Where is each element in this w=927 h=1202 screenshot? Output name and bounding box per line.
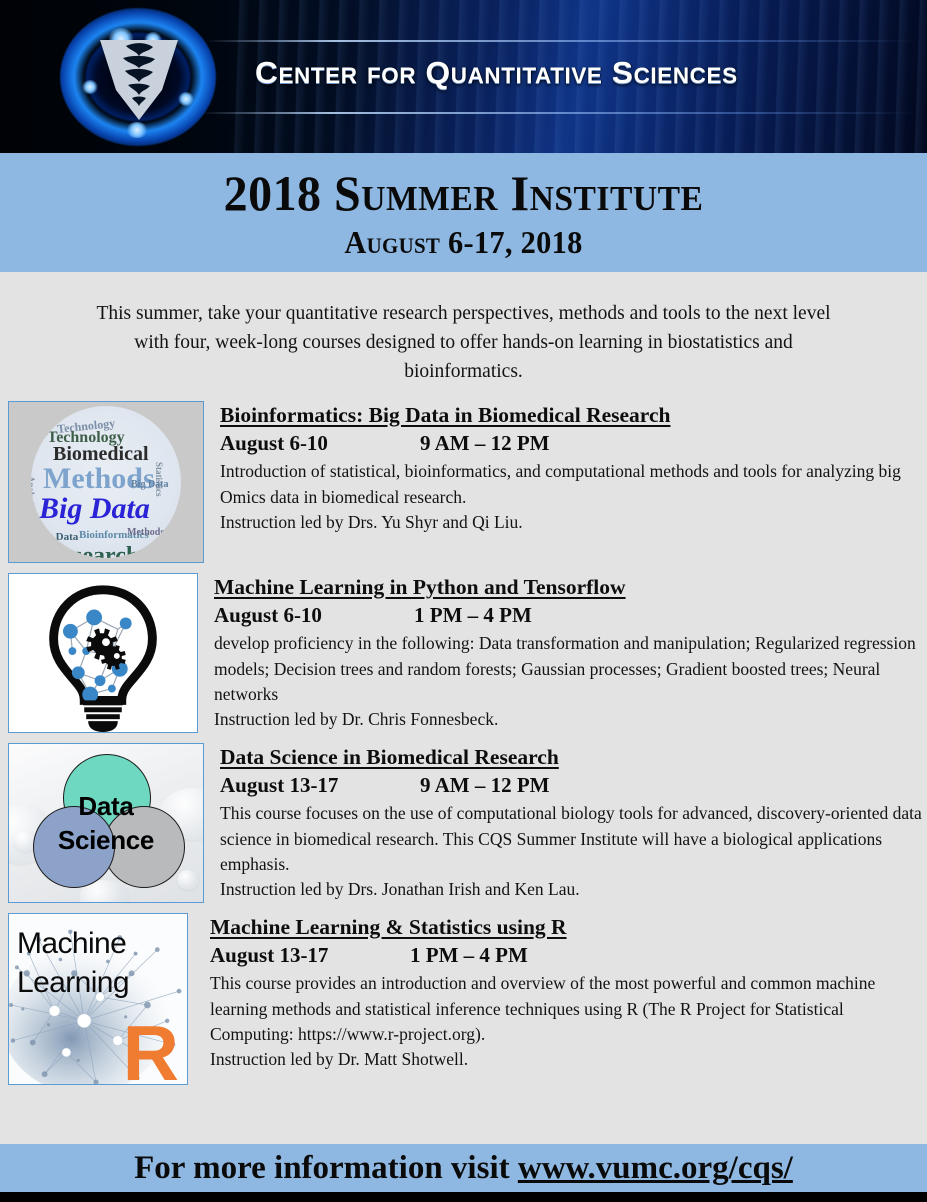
- course-instructors: Instruction led by Drs. Yu Shyr and Qi L…: [220, 510, 927, 535]
- background-bubble: [177, 870, 199, 890]
- course-date: August 13-17: [210, 943, 410, 968]
- r-logo-letter: R: [123, 1014, 179, 1085]
- page-title: 2018 Summer Institute: [19, 153, 909, 218]
- course-time: 9 AM – 12 PM: [420, 773, 927, 798]
- course-body: Bioinformatics: Big Data in Biomedical R…: [204, 401, 927, 535]
- course-body: Machine Learning & Statistics using R Au…: [188, 913, 927, 1073]
- page-subtitle-dates: August 6-17, 2018: [23, 218, 904, 258]
- lightbulb-icon: [9, 574, 197, 732]
- data-science-venn-image: Data Science: [8, 743, 204, 903]
- ml-caption-line2: Learning: [17, 963, 129, 1003]
- course-item: Data Science Data Science in Biomedical …: [0, 743, 927, 903]
- course-body: Data Science in Biomedical Research Augu…: [204, 743, 927, 903]
- course-item: Machine Learning R Machine Learning & St…: [0, 913, 927, 1085]
- header-accent-line-bottom: [200, 112, 919, 114]
- header-org-title: Center for Quantitative Sciences: [255, 55, 918, 103]
- course-description: This course provides an introduction and…: [210, 971, 927, 1047]
- footer-banner: For more information visit www.vumc.org/…: [0, 1144, 927, 1192]
- course-date: August 13-17: [220, 773, 420, 798]
- course-list: Technology Technology Biomedical Methods…: [0, 401, 927, 1085]
- course-date: August 6-10: [220, 431, 420, 456]
- intro-paragraph: This summer, take your quantitative rese…: [94, 272, 834, 387]
- course-title[interactable]: Machine Learning & Statistics using R: [210, 915, 927, 940]
- wordcloud-word: Big Data: [37, 532, 78, 543]
- title-banner: 2018 Summer Institute August 6-17, 2018: [0, 153, 927, 272]
- logo-spark-icon: [126, 122, 148, 138]
- course-item: Machine Learning in Python and Tensorflo…: [0, 573, 927, 733]
- lightbulb-network-image: [8, 573, 198, 733]
- course-title[interactable]: Machine Learning in Python and Tensorflo…: [214, 575, 927, 600]
- v-shield-icon: [96, 36, 182, 124]
- venn-label-line2: Science: [9, 826, 203, 855]
- course-schedule: August 6-10 1 PM – 4 PM: [214, 603, 927, 628]
- course-body: Machine Learning in Python and Tensorflo…: [198, 573, 927, 733]
- course-schedule: August 13-17 1 PM – 4 PM: [210, 943, 927, 968]
- course-schedule: August 6-10 9 AM – 12 PM: [220, 431, 927, 456]
- word-cloud-image: Technology Technology Biomedical Methods…: [8, 401, 204, 563]
- course-time: 1 PM – 4 PM: [410, 943, 927, 968]
- header-accent-line-top: [205, 40, 919, 42]
- course-schedule: August 13-17 9 AM – 12 PM: [220, 773, 927, 798]
- course-time: 9 AM – 12 PM: [420, 431, 927, 456]
- wordcloud-word: Big Data: [39, 494, 150, 524]
- venn-label-line1: Data: [9, 792, 203, 821]
- wordcloud-word: Big Data: [131, 480, 169, 490]
- wordcloud-word: Methods: [127, 528, 164, 538]
- course-instructors: Instruction led by Dr. Chris Fonnesbeck.: [214, 707, 927, 732]
- site-header: Center for Quantitative Sciences: [0, 0, 927, 153]
- course-instructors: Instruction led by Dr. Matt Shotwell.: [210, 1047, 927, 1072]
- course-item: Technology Technology Biomedical Methods…: [0, 401, 927, 563]
- ml-caption-line1: Machine: [17, 924, 129, 964]
- machine-learning-r-image: Machine Learning R: [8, 913, 188, 1085]
- wordcloud-word: Biomedical: [53, 444, 149, 464]
- course-description: This course focuses on the use of comput…: [220, 801, 927, 877]
- footer-black-bar: [0, 1192, 927, 1202]
- course-description: develop proficiency in the following: Da…: [214, 631, 927, 707]
- course-time: 1 PM – 4 PM: [414, 603, 927, 628]
- bulb-base-icon: [83, 700, 123, 732]
- course-instructors: Instruction led by Drs. Jonathan Irish a…: [220, 877, 927, 902]
- cqs-website-link[interactable]: www.vumc.org/cqs/: [518, 1150, 793, 1186]
- footer-prefix: For more information visit: [134, 1150, 518, 1186]
- flyer-page: Center for Quantitative Sciences 2018 Su…: [0, 0, 927, 1202]
- wordcloud-word: Analysis: [31, 476, 35, 509]
- wordcloud-word: Research: [45, 544, 139, 558]
- footer-text: For more information visit www.vumc.org/…: [0, 1144, 927, 1192]
- ml-image-caption: Machine Learning: [17, 924, 129, 1003]
- vanderbilt-v-logo: [48, 6, 228, 148]
- word-cloud-circle: Technology Technology Biomedical Methods…: [31, 406, 181, 558]
- course-date: August 6-10: [214, 603, 414, 628]
- course-title[interactable]: Data Science in Biomedical Research: [220, 745, 927, 770]
- course-description: Introduction of statistical, bioinformat…: [220, 459, 927, 509]
- course-title[interactable]: Bioinformatics: Big Data in Biomedical R…: [220, 403, 927, 428]
